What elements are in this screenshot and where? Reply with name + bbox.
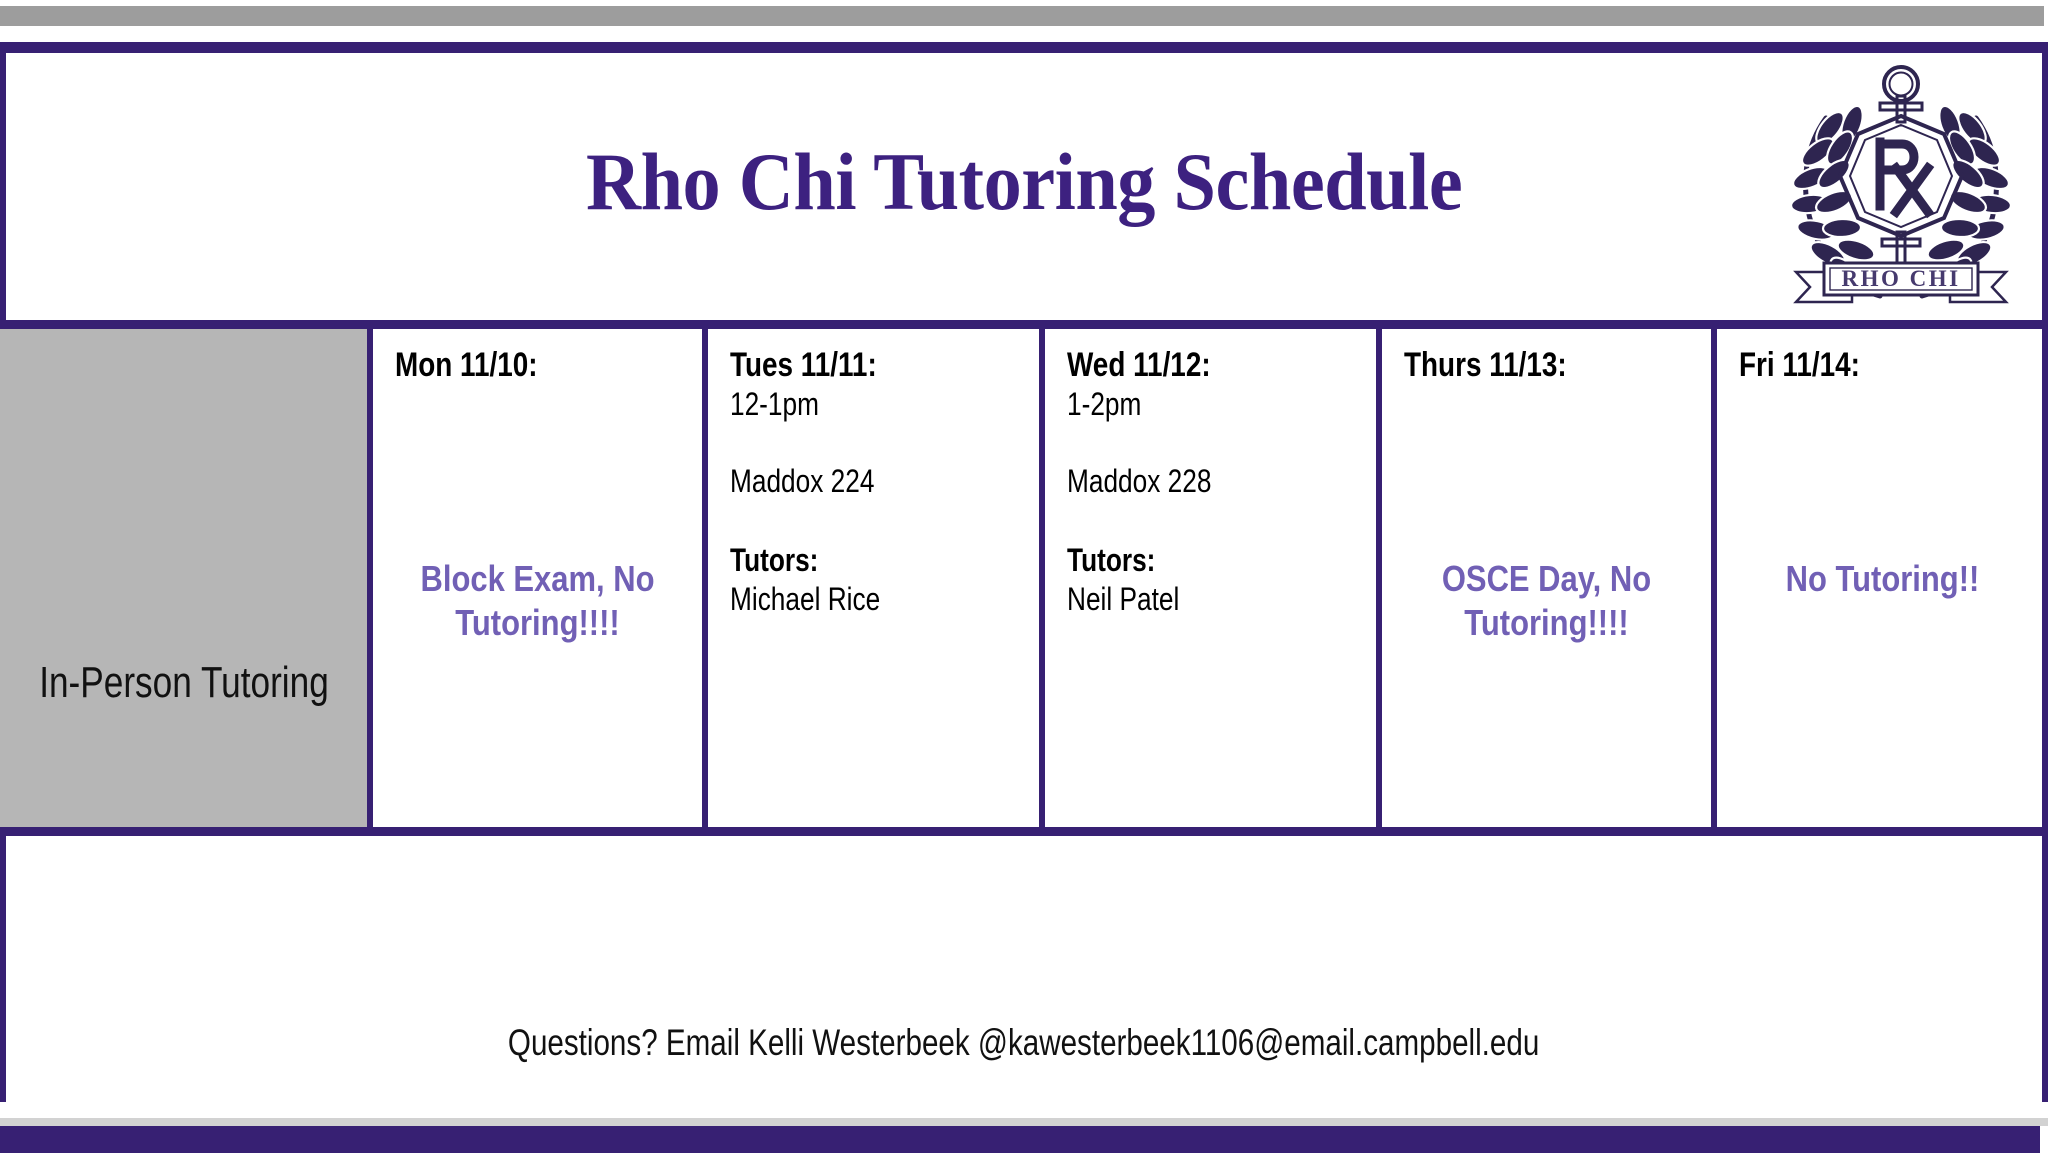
contact-footer-note: Questions? Email Kelli Westerbeek @kawes… xyxy=(0,1022,2048,1064)
day-column-thursday[interactable]: Thurs 11/13: OSCE Day, No Tutoring!!!! xyxy=(1382,329,1717,827)
day-column-tuesday[interactable]: Tues 11/11: 12-1pm Maddox 224 Tutors: Mi… xyxy=(708,329,1045,827)
spacer xyxy=(1067,501,1356,541)
day-column-friday[interactable]: Fri 11/14: No Tutoring!! xyxy=(1717,329,2048,827)
day-notice-line-1: OSCE Day, No xyxy=(1417,557,1676,601)
day-column-monday[interactable]: Mon 11/10: Block Exam, No Tutoring!!!! xyxy=(373,329,708,827)
row-label-text: In-Person Tutoring xyxy=(39,658,329,708)
day-room: Maddox 224 xyxy=(730,462,967,501)
spacer xyxy=(1067,424,1356,462)
day-notice: Block Exam, No Tutoring!!!! xyxy=(373,557,702,645)
day-notice-line-1: No Tutoring!! xyxy=(1752,557,2013,601)
top-gray-accent-bar xyxy=(0,6,2044,26)
spacer xyxy=(730,424,1019,462)
spacer xyxy=(730,501,1019,541)
day-heading: Mon 11/10: xyxy=(395,345,630,385)
day-notice-line-1: Block Exam, No xyxy=(408,557,667,601)
day-time: 1-2pm xyxy=(1067,385,1304,424)
bottom-purple-accent-bar xyxy=(0,1126,2040,1153)
tutors-names: Neil Patel xyxy=(1067,580,1304,619)
day-heading: Fri 11/14: xyxy=(1739,345,1976,385)
day-room: Maddox 228 xyxy=(1067,462,1304,501)
day-heading: Thurs 11/13: xyxy=(1404,345,1639,385)
tutoring-schedule-table: In-Person Tutoring Mon 11/10: Block Exam… xyxy=(0,320,2048,836)
day-time: 12-1pm xyxy=(730,385,967,424)
tutors-label: Tutors: xyxy=(1067,541,1304,580)
day-heading: Tues 11/11: xyxy=(730,345,967,385)
day-notice-line-2: Tutoring!!!! xyxy=(1417,601,1676,645)
page-header: Rho Chi Tutoring Schedule xyxy=(6,53,2042,310)
page-title: Rho Chi Tutoring Schedule xyxy=(586,135,1462,229)
svg-text:RHO CHI: RHO CHI xyxy=(1841,266,1960,291)
contact-footer-text: Questions? Email Kelli Westerbeek @kawes… xyxy=(508,1022,1539,1064)
day-notice: OSCE Day, No Tutoring!!!! xyxy=(1382,557,1711,645)
day-notice-line-2: Tutoring!!!! xyxy=(408,601,667,645)
rho-chi-crest-icon: RHO CHI xyxy=(1768,56,2034,306)
tutors-label: Tutors: xyxy=(730,541,967,580)
bottom-gray-accent-bar xyxy=(0,1118,2048,1126)
day-heading: Wed 11/12: xyxy=(1067,345,1304,385)
day-column-wednesday[interactable]: Wed 11/12: 1-2pm Maddox 228 Tutors: Neil… xyxy=(1045,329,1382,827)
day-notice: No Tutoring!! xyxy=(1717,557,2048,601)
tutors-names: Michael Rice xyxy=(730,580,967,619)
row-label-cell: In-Person Tutoring xyxy=(0,329,373,827)
